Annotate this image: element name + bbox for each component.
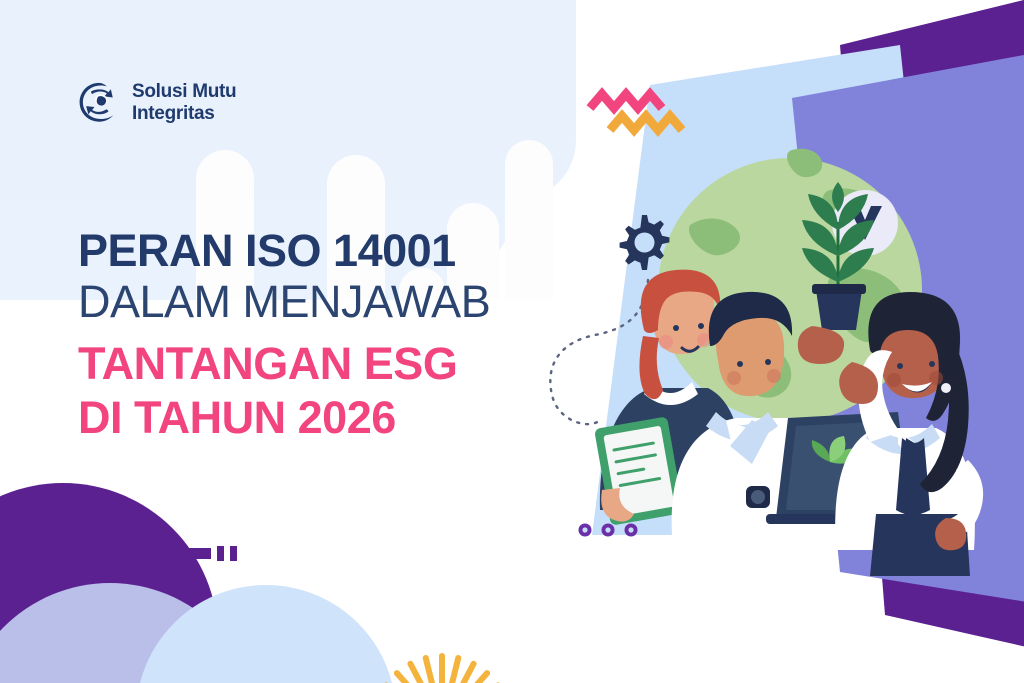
- brand-logo: Solusi Mutu Integritas: [76, 80, 236, 126]
- sunburst-ray: [426, 658, 433, 683]
- headline-line-1: PERAN ISO 14001: [78, 228, 548, 274]
- decor-dash-mark: [163, 546, 237, 561]
- headline-line-4: DI TAHUN 2026: [78, 393, 548, 443]
- headline-block: PERAN ISO 14001 DALAM MENJAWAB TANTANGAN…: [78, 228, 548, 442]
- brand-name-line1: Solusi Mutu: [132, 81, 236, 103]
- headline-line-2: DALAM MENJAWAB: [78, 276, 548, 327]
- earring-icon: [941, 383, 951, 393]
- brand-name-line2: Integritas: [132, 103, 236, 125]
- swoosh-globe-logo-icon: [76, 80, 122, 126]
- sunburst-ray: [410, 664, 423, 683]
- brand-name: Solusi Mutu Integritas: [132, 81, 236, 124]
- decor-dash-bar: [163, 548, 211, 559]
- hero-illustration: [540, 0, 1024, 683]
- sunburst-ray: [452, 658, 459, 683]
- poster-canvas: Solusi Mutu Integritas PERAN ISO 14001 D…: [0, 0, 1024, 683]
- headline-line-3: TANTANGAN ESG: [78, 339, 548, 389]
- decor-tick: [217, 546, 224, 561]
- sunburst-ray: [461, 664, 474, 683]
- sunburst-icon: [352, 614, 532, 683]
- decor-tick: [230, 546, 237, 561]
- three-dots-indicator: [579, 524, 638, 537]
